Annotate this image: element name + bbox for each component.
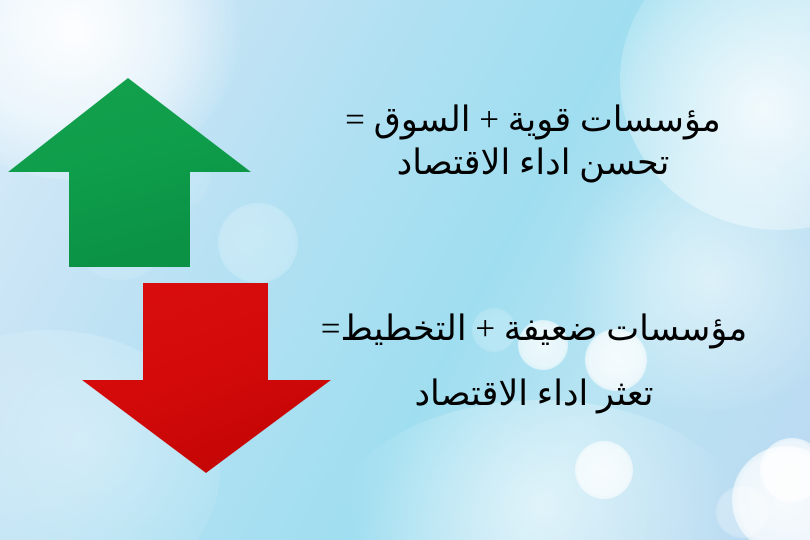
arrows-svg (0, 0, 810, 540)
text-line-2a: مؤسسات ضعيفة + التخطيط= (254, 297, 810, 362)
text-block-strong-institutions: مؤسسات قوية + السوق = تحسن اداء الاقتصاد (268, 99, 798, 184)
text-line-2b: تعثر اداء الاقتصاد (254, 362, 810, 427)
text-block-weak-institutions: مؤسسات ضعيفة + التخطيط= تعثر اداء الاقتص… (254, 297, 810, 427)
slide-canvas: مؤسسات قوية + السوق = تحسن اداء الاقتصاد… (0, 0, 810, 540)
arrows-layer (0, 0, 810, 540)
text-line-1b: تحسن اداء الاقتصاد (268, 142, 798, 185)
green-up-arrow (8, 78, 251, 267)
text-line-1a: مؤسسات قوية + السوق = (268, 99, 798, 142)
